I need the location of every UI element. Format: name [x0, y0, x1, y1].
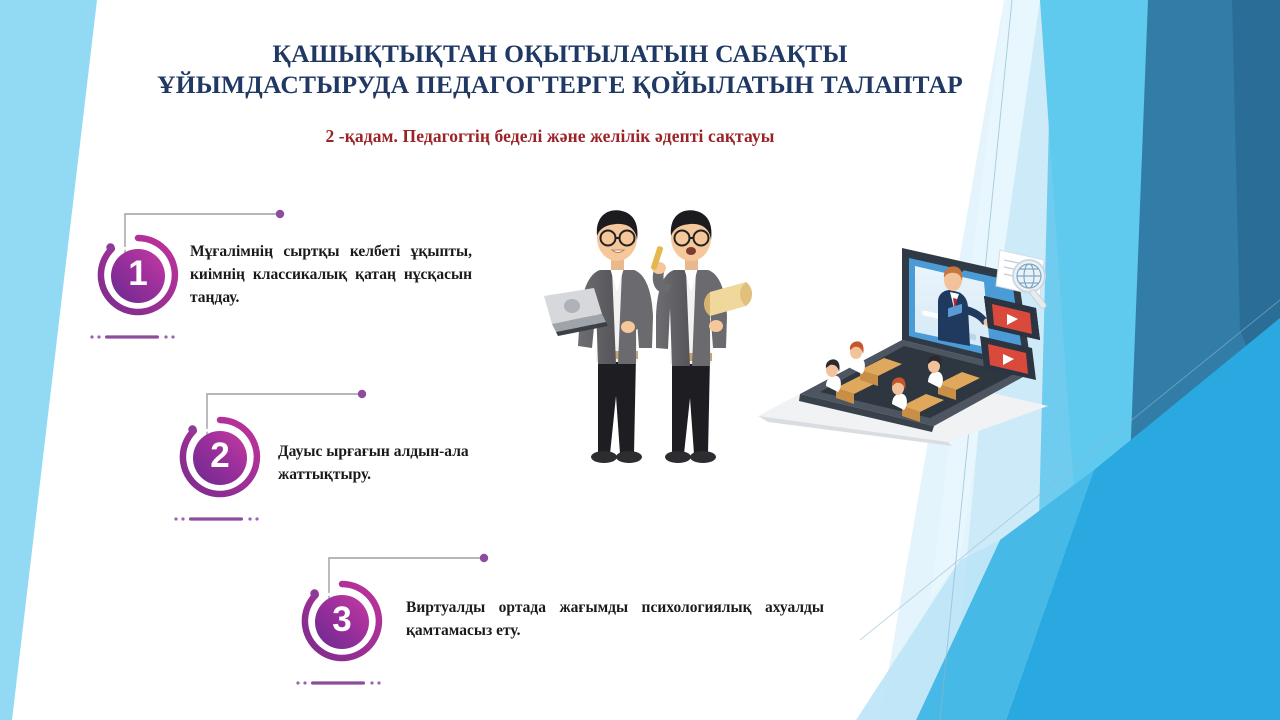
step-divider-1 [88, 330, 184, 344]
step-divider-2 [172, 512, 268, 526]
page-title: ҚАШЫҚТЫҚТАН ОҚЫТЫЛАТЫН САБАҚТЫ ҰЙЫМДАСТЫ… [150, 38, 970, 100]
online-classroom-laptop-illustration [752, 236, 1052, 446]
step-number-3: 3 [299, 578, 385, 664]
step-badge-2: 2 [177, 414, 263, 500]
slide-canvas: ҚАШЫҚТЫҚТАН ОҚЫТЫЛАТЫН САБАҚТЫ ҰЙЫМДАСТЫ… [0, 0, 1280, 720]
teacher-left [544, 210, 653, 463]
step-text-1: Мұғалімнің сыртқы келбеті ұқыпты, киімні… [190, 240, 472, 309]
step-number-2: 2 [177, 414, 263, 500]
step-number-1: 1 [95, 232, 181, 318]
page-subtitle: 2 -қадам. Педагогтің беделі және желілік… [200, 126, 900, 147]
step-text-3: Виртуалды ортада жағымды психологиялық а… [406, 596, 824, 642]
teacher-right [650, 210, 752, 463]
step-text-2: Дауыс ырғағын алдын-ала жаттықтыру. [278, 440, 528, 486]
step-badge-3: 3 [299, 578, 385, 664]
step-divider-3 [294, 676, 390, 690]
step-badge-1: 1 [95, 232, 181, 318]
two-teachers-illustration [540, 196, 780, 496]
